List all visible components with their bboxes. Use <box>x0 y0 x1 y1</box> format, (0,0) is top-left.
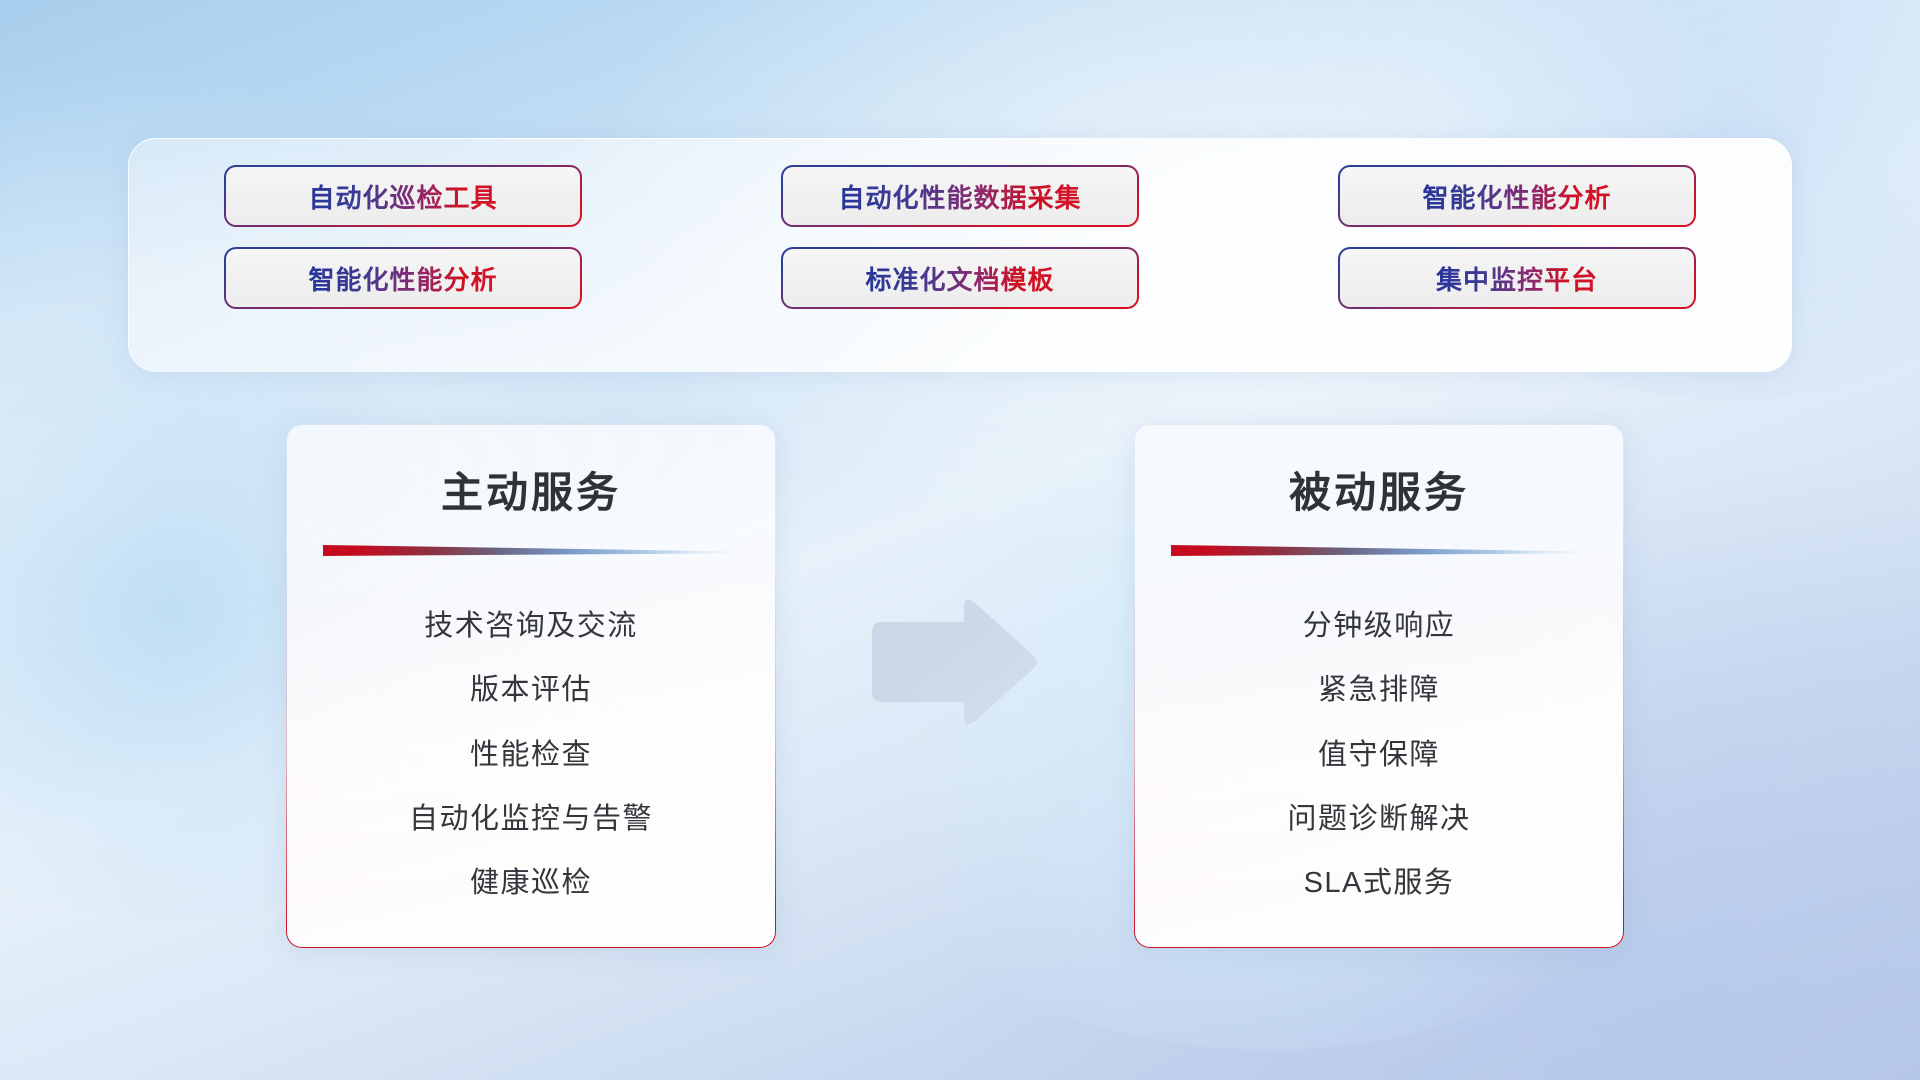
card-title: 主动服务 <box>287 425 775 520</box>
card-item-list: 分钟级响应 紧急排障 值守保障 问题诊断解决 SLA式服务 <box>1135 556 1623 915</box>
capability-pill-inner: 自动化巡检工具 <box>226 167 580 225</box>
card-list-item: 健康巡检 <box>287 851 775 915</box>
slide-canvas: 自动化巡检工具 自动化性能数据采集 智能化性能分析 智能化性能分析 <box>0 0 1920 1080</box>
capability-pill-label: 智能化性能分析 <box>1422 178 1611 215</box>
capability-pill-label: 标准化文档模板 <box>865 260 1054 297</box>
capability-pill-inner: 智能化性能分析 <box>1340 167 1694 225</box>
card-list-item: 技术咨询及交流 <box>287 594 775 658</box>
capability-pill[interactable]: 自动化巡检工具 <box>224 165 582 227</box>
capability-pill-label: 集中监控平台 <box>1436 260 1598 297</box>
service-card-active: 主动服务 技术咨询及交流 版本评估 性能检查 自动化监控与告警 健康巡检 <box>286 424 776 948</box>
capability-pill[interactable]: 自动化性能数据采集 <box>781 165 1139 227</box>
flow-arrow <box>868 596 1040 728</box>
capability-pill[interactable]: 智能化性能分析 <box>224 247 582 309</box>
capability-pill-label: 智能化性能分析 <box>308 260 497 297</box>
capability-pill-inner: 集中监控平台 <box>1340 249 1694 307</box>
capability-pill-inner: 自动化性能数据采集 <box>783 167 1137 225</box>
card-item-list: 技术咨询及交流 版本评估 性能检查 自动化监控与告警 健康巡检 <box>287 556 775 915</box>
capability-pill-label: 自动化巡检工具 <box>308 178 497 215</box>
card-title: 被动服务 <box>1135 425 1623 520</box>
card-list-item: 问题诊断解决 <box>1135 787 1623 851</box>
card-list-item: 值守保障 <box>1135 723 1623 787</box>
capability-pill-inner: 智能化性能分析 <box>226 249 580 307</box>
card-divider <box>323 544 739 556</box>
card-list-item: 自动化监控与告警 <box>287 787 775 851</box>
card-list-item: 版本评估 <box>287 658 775 722</box>
capability-pill[interactable]: 标准化文档模板 <box>781 247 1139 309</box>
capability-pill[interactable]: 智能化性能分析 <box>1338 165 1696 227</box>
capability-panel: 自动化巡检工具 自动化性能数据采集 智能化性能分析 智能化性能分析 <box>128 138 1792 372</box>
capability-pill-grid: 自动化巡检工具 自动化性能数据采集 智能化性能分析 智能化性能分析 <box>224 165 1696 309</box>
card-list-item: SLA式服务 <box>1135 851 1623 915</box>
capability-pill-label: 自动化性能数据采集 <box>838 178 1081 215</box>
service-card-passive: 被动服务 分钟级响应 紧急排障 值守保障 问题诊断解决 SLA式服务 <box>1134 424 1624 948</box>
card-list-item: 分钟级响应 <box>1135 594 1623 658</box>
card-list-item: 性能检查 <box>287 723 775 787</box>
capability-pill[interactable]: 集中监控平台 <box>1338 247 1696 309</box>
capability-pill-inner: 标准化文档模板 <box>783 249 1137 307</box>
arrow-right-icon <box>868 596 1040 728</box>
card-list-item: 紧急排障 <box>1135 658 1623 722</box>
card-divider <box>1171 544 1587 556</box>
